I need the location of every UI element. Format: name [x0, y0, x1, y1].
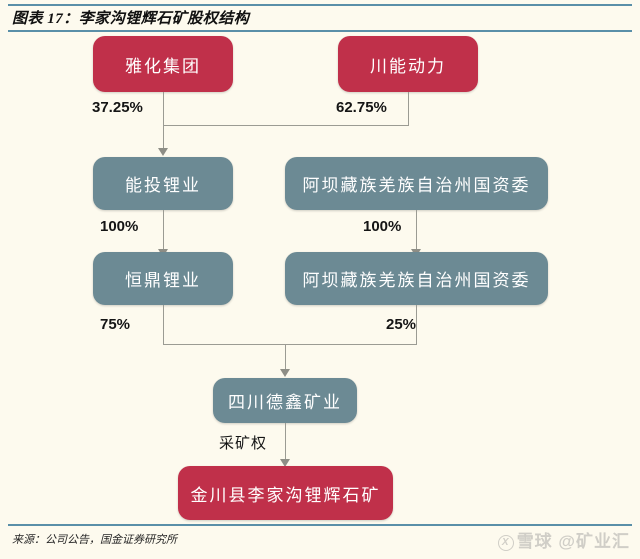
node-hengding[interactable]: 恒鼎锂业	[93, 252, 233, 305]
node-dexin[interactable]: 四川德鑫矿业	[213, 378, 357, 423]
node-abazhou-sasac-lower-label: 阿坝藏族羌族自治州国资委	[303, 266, 531, 291]
node-lijiagou-mine-label: 金川县李家沟锂辉石矿	[191, 481, 381, 506]
node-lijiagou-mine[interactable]: 金川县李家沟锂辉石矿	[178, 466, 393, 520]
node-yahua-label: 雅化集团	[125, 52, 201, 77]
edge-label-mining-right: 采矿权	[219, 432, 267, 453]
connector-into-nengtou	[163, 125, 164, 150]
node-chuanneng[interactable]: 川能动力	[338, 36, 478, 92]
connector-merge-row3	[163, 344, 417, 345]
node-dexin-label: 四川德鑫矿业	[228, 388, 342, 413]
edge-label-nengtou-hengding: 100%	[100, 218, 138, 235]
connector-into-dexin	[285, 344, 286, 372]
arrow-into-nengtou	[158, 148, 168, 156]
connector-dexin-lijiagou	[285, 423, 286, 462]
edge-label-chuanneng-nengtou: 62.75%	[336, 99, 387, 116]
connector-yahua-down	[163, 92, 164, 125]
node-nengtou-label: 能投锂业	[125, 171, 201, 196]
source-note: 来源：公司公告，国金证券研究所	[12, 531, 177, 547]
title-rule-top	[8, 4, 632, 6]
figure-container: 图表 17：李家沟锂辉石矿股权结构 雅化集团 川能动力 37.25% 62.75…	[0, 0, 640, 559]
watermark-logo-icon: X	[498, 535, 514, 551]
connector-hengding-down	[163, 305, 164, 344]
edge-label-yahua-nengtou: 37.25%	[92, 99, 143, 116]
node-hengding-label: 恒鼎锂业	[125, 266, 201, 291]
node-abazhou-sasac-upper[interactable]: 阿坝藏族羌族自治州国资委	[285, 157, 548, 210]
connector-abazhou-lower-down	[416, 305, 417, 344]
node-chuanneng-label: 川能动力	[370, 52, 446, 77]
title-rule-bottom	[8, 30, 632, 32]
edge-label-hengding-dexin: 75%	[100, 316, 130, 333]
node-nengtou[interactable]: 能投锂业	[93, 157, 233, 210]
watermark-text: 雪球 @矿业汇	[517, 532, 630, 551]
footer-rule	[8, 524, 632, 526]
arrow-into-dexin	[280, 369, 290, 377]
page-title: 图表 17：李家沟锂辉石矿股权结构	[12, 7, 249, 28]
node-abazhou-sasac-upper-label: 阿坝藏族羌族自治州国资委	[303, 171, 531, 196]
connector-merge-row1	[163, 125, 409, 126]
edge-label-abazhou-dexin: 25%	[386, 316, 416, 333]
watermark: X雪球 @矿业汇	[498, 527, 630, 552]
node-yahua[interactable]: 雅化集团	[93, 36, 233, 92]
connector-nengtou-hengding	[163, 210, 164, 252]
edge-label-abazhou-abazhou: 100%	[363, 218, 401, 235]
node-abazhou-sasac-lower[interactable]: 阿坝藏族羌族自治州国资委	[285, 252, 548, 305]
connector-abazhou-abazhou	[416, 210, 417, 252]
connector-chuanneng-down	[408, 92, 409, 125]
